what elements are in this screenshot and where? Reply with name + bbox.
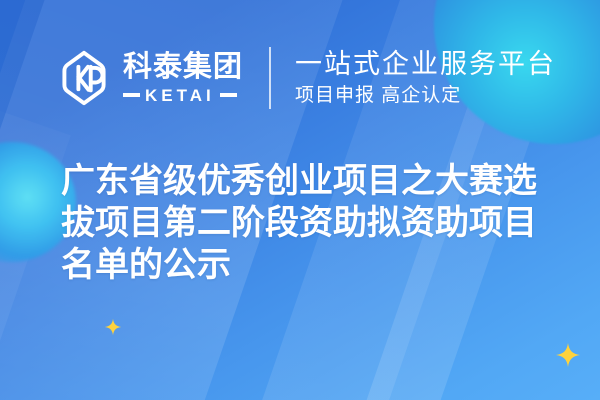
promo-banner: 科泰集团 KETAI 一站式企业服务平台 项目申报 高企认定 广东省级优秀创业项…	[0, 0, 600, 400]
logo-dash-left-icon	[123, 93, 140, 97]
ketai-logo-mark-icon	[56, 50, 112, 106]
tagline-main-text: 一站式企业服务平台	[295, 49, 556, 79]
diagonal-bar-left	[0, 0, 63, 257]
logo-dash-right-icon	[220, 93, 237, 97]
logo-english-row: KETAI	[123, 87, 243, 104]
tagline-sub-text: 项目申报 高企认定	[295, 86, 556, 107]
banner-header: 科泰集团 KETAI 一站式企业服务平台 项目申报 高企认定	[56, 42, 570, 114]
sparkle-star-small-icon	[104, 318, 122, 336]
logo-company-name-cn: 科泰集团	[123, 53, 243, 82]
tagline-block: 一站式企业服务平台 项目申报 高企认定	[295, 49, 556, 106]
sparkle-star-large-icon	[555, 342, 581, 368]
logo-wordmark: 科泰集团 KETAI	[123, 53, 243, 104]
header-vertical-divider	[269, 47, 271, 109]
logo-company-name-en: KETAI	[145, 87, 215, 104]
banner-title: 广东省级优秀创业项目之大赛选拔项目第二阶段资助拟资助项目名单的公示	[61, 160, 561, 286]
